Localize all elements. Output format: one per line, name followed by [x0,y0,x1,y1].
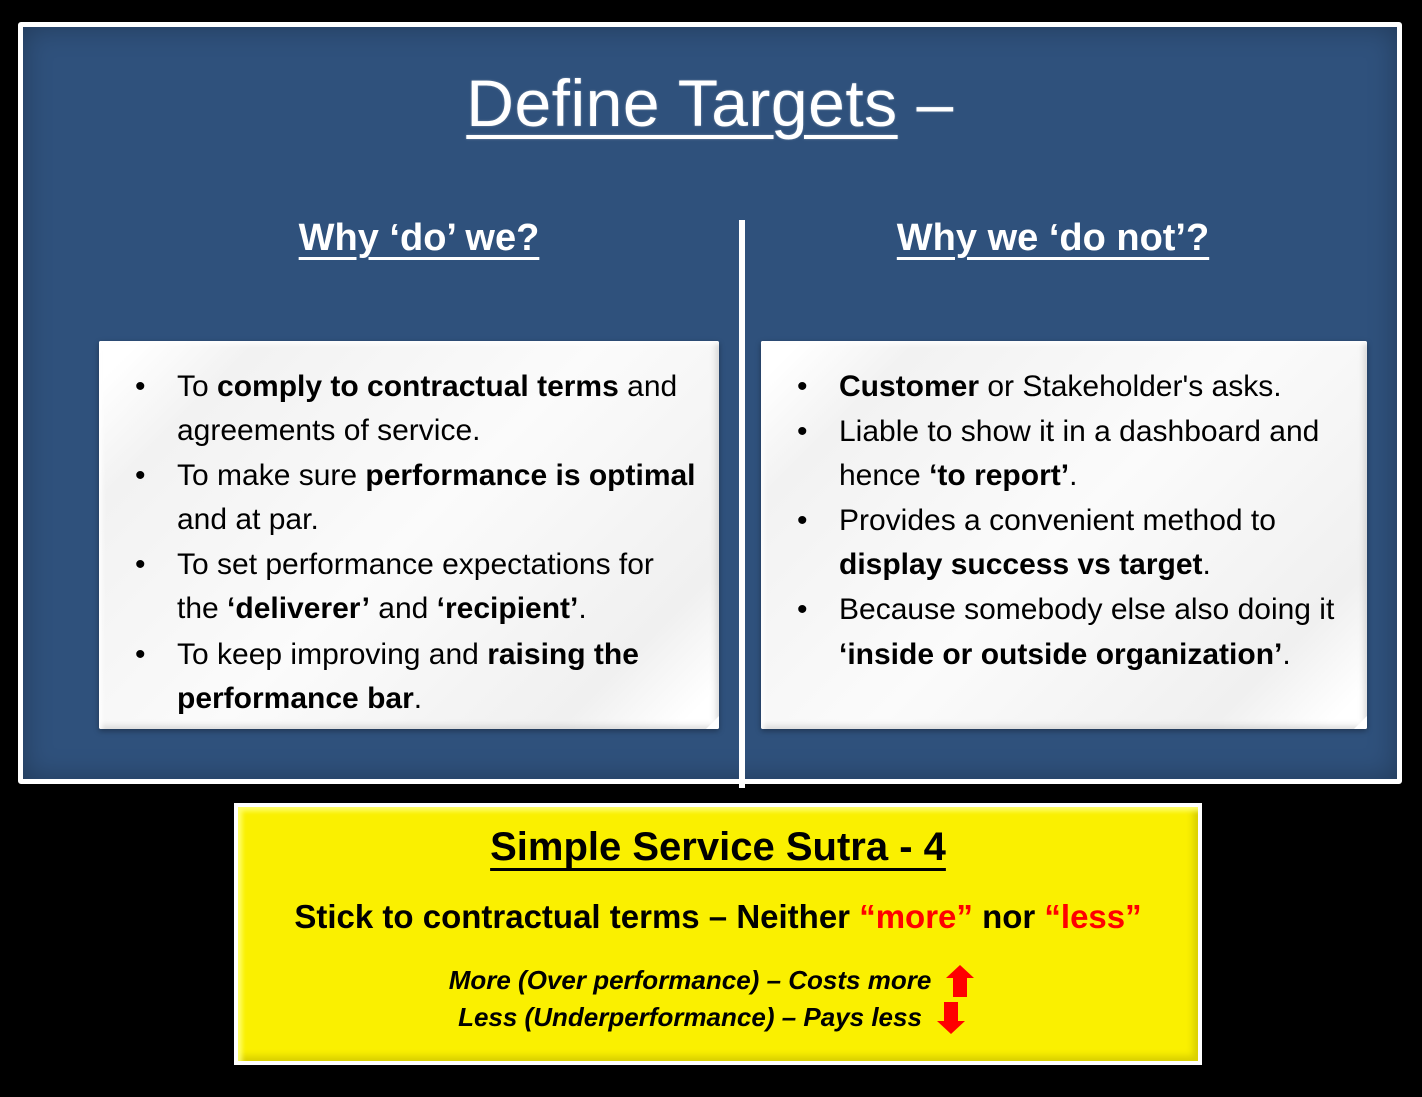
bullet-text: Because somebody else also doing it [839,593,1334,626]
right-bullet-list: •Customer or Stakeholder's asks.•Liable … [761,341,1367,677]
bullet-dot-icon: • [135,633,146,677]
list-item: •To make sure performance is optimal and… [119,454,703,542]
left-bullets-card: •To comply to contractual terms and agre… [99,341,719,729]
bullet-text: or Stakeholder's asks. [979,370,1282,403]
page-title-dash: – [898,66,954,140]
arrow-up-icon [945,964,975,998]
bullet-dot-icon: • [797,365,808,409]
list-item: •Customer or Stakeholder's asks. [781,365,1351,409]
sutra-callout-box: Simple Service Sutra - 4 Stick to contra… [234,803,1202,1065]
sutra-main-line: Stick to contractual terms – Neither “mo… [238,898,1198,936]
main-blue-panel: Define Targets – Why ‘do’ we? Why we ‘do… [18,22,1402,784]
bullet-dot-icon: • [135,365,146,409]
right-bullets-card: •Customer or Stakeholder's asks.•Liable … [761,341,1367,729]
list-item: •To comply to contractual terms and agre… [119,365,703,453]
bullet-dot-icon: • [797,410,808,454]
sutra-note-text: Less (Underperformance) – Pays less [458,1002,922,1032]
bullet-text: and [370,592,437,625]
page-title: Define Targets – [23,69,1397,138]
sutra-note-text: More (Over performance) – Costs more [449,965,932,995]
bullet-text: To keep improving and [177,638,487,671]
list-item: •Because somebody else also doing it ‘in… [781,588,1351,676]
left-column-heading: Why ‘do’ we? [209,217,629,260]
bullet-emphasis: ‘recipient’ [437,592,579,625]
bullet-emphasis: performance is optimal [365,459,695,492]
bullet-emphasis: ‘deliverer’ [227,592,370,625]
bullet-text: . [1282,638,1290,671]
sutra-highlight: “less” [1044,898,1141,935]
list-item: •Provides a convenient method to display… [781,499,1351,587]
bullet-emphasis: ‘to report’ [929,459,1069,492]
bullet-dot-icon: • [797,588,808,632]
bullet-text: To [177,370,217,403]
sutra-text: nor [973,898,1045,935]
bullet-dot-icon: • [135,454,146,498]
bullet-text: Liable to show it in a dashboard and hen… [839,415,1319,492]
bullet-emphasis: display success vs target [839,548,1203,581]
sutra-notes: More (Over performance) – Costs moreLess… [238,962,1198,1036]
bullet-dot-icon: • [135,543,146,587]
sutra-title: Simple Service Sutra - 4 [238,825,1198,870]
bullet-text: . [1203,548,1211,581]
bullet-text: . [578,592,586,625]
slide-canvas: Define Targets – Why ‘do’ we? Why we ‘do… [0,0,1422,1097]
bullet-text: and at par. [177,503,319,536]
sutra-text: Stick to contractual terms – Neither [294,898,859,935]
bullet-dot-icon: • [797,499,808,543]
list-item: •To set performance expectations for the… [119,543,703,631]
bullet-text: Provides a convenient method to [839,504,1276,537]
bullet-emphasis: comply to contractual terms [217,370,619,403]
sutra-note-line: Less (Underperformance) – Pays less [238,999,1142,1036]
bullet-emphasis: ‘inside or outside organization’ [839,638,1282,671]
bullet-emphasis: Customer [839,370,979,403]
page-title-text: Define Targets [466,66,897,140]
sutra-highlight: “more” [859,898,973,935]
bullet-text: . [1069,459,1077,492]
sutra-note-line: More (Over performance) – Costs more [238,962,1142,999]
list-item: •To keep improving and raising the perfo… [119,633,703,721]
left-bullet-list: •To comply to contractual terms and agre… [99,341,719,721]
list-item: •Liable to show it in a dashboard and he… [781,410,1351,498]
arrow-down-icon [936,1001,966,1035]
bullet-text: To make sure [177,459,365,492]
bullet-text: . [414,682,422,715]
right-column-heading: Why we ‘do not’? [843,217,1263,260]
column-divider [739,220,745,788]
